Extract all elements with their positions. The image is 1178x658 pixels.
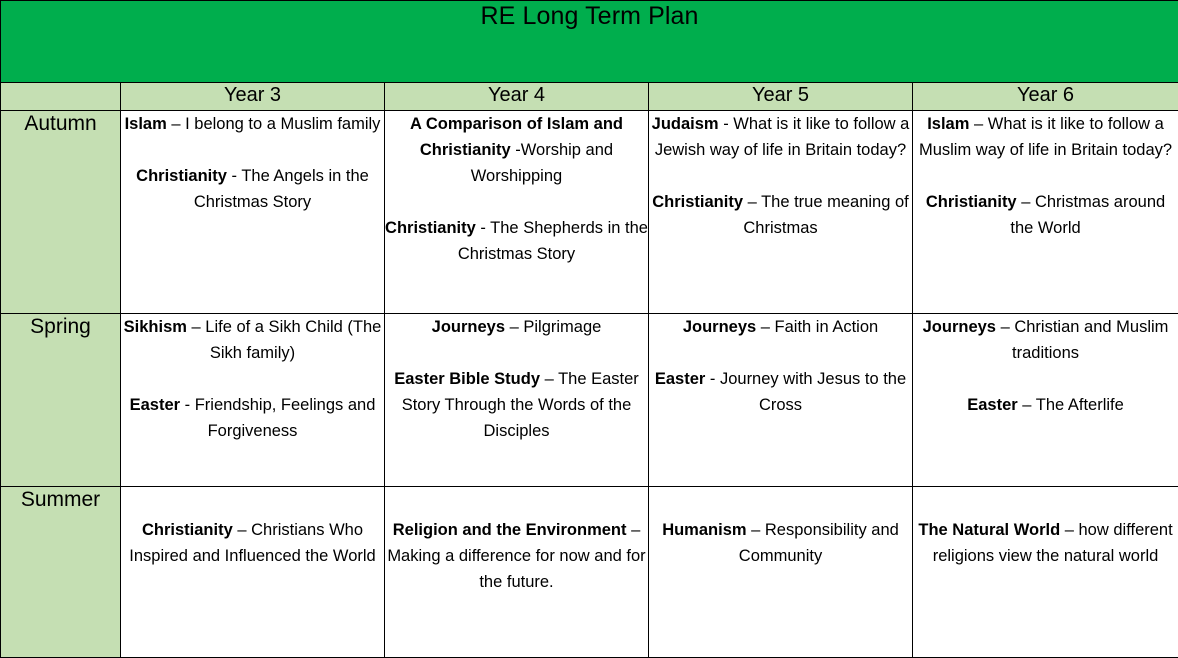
- cell-content: The Natural World – how different religi…: [913, 517, 1178, 569]
- cell-entry: Religion and the Environment – Making a …: [385, 517, 648, 595]
- cell-entry: Christianity - The Shepherds in the Chri…: [385, 215, 648, 267]
- cell-content: Sikhism – Life of a Sikh Child (The Sikh…: [121, 314, 384, 444]
- cell-spring-year-6: Journeys – Christian and Muslim traditio…: [913, 314, 1178, 487]
- column-header-year-4: Year 4: [385, 83, 649, 111]
- cell-entry-detail: – The true meaning of Christmas: [743, 193, 909, 237]
- cell-content: Journeys – Faith in ActionEaster - Journ…: [649, 314, 912, 418]
- title-row: RE Long Term Plan: [1, 1, 1178, 83]
- cell-entry: Christianity – The true meaning of Chris…: [649, 189, 912, 241]
- cell-entry-detail: – Faith in Action: [756, 318, 878, 336]
- cell-entry-topic: Religion and the Environment: [393, 521, 627, 539]
- cell-entry-topic: Humanism: [662, 521, 746, 539]
- cell-entry-topic: Easter: [967, 396, 1017, 414]
- table-row-autumn: Autumn Islam – I belong to a Muslim fami…: [1, 111, 1178, 314]
- cell-content: Religion and the Environment – Making a …: [385, 517, 648, 595]
- year-header-row: Year 3 Year 4 Year 5 Year 6: [1, 83, 1178, 111]
- cell-summer-year-4: Religion and the Environment – Making a …: [385, 487, 649, 658]
- cell-entry-topic: Islam: [927, 115, 969, 133]
- cell-entry-topic: Journeys: [683, 318, 756, 336]
- column-header-year-5: Year 5: [649, 83, 913, 111]
- cell-autumn-year-3: Islam – I belong to a Muslim familyChris…: [121, 111, 385, 314]
- cell-entry: Journeys – Faith in Action: [649, 314, 912, 340]
- cell-entry-detail: – The Afterlife: [1018, 396, 1124, 414]
- cell-autumn-year-6: Islam – What is it like to follow a Musl…: [913, 111, 1178, 314]
- cell-entry-detail: – Responsibility and Community: [739, 521, 899, 565]
- cell-entry: Judaism - What is it like to follow a Je…: [649, 111, 912, 163]
- cell-entry-detail: – Life of a Sikh Child (The Sikh family): [187, 318, 381, 362]
- row-header-autumn: Autumn: [1, 111, 121, 314]
- year-4-label: Year 4: [488, 84, 545, 106]
- cell-entry: The Natural World – how different religi…: [913, 517, 1178, 569]
- cell-entry-topic: Christianity: [142, 521, 233, 539]
- cell-entry-detail: – Pilgrimage: [505, 318, 601, 336]
- cell-entry-detail: - Friendship, Feelings and Forgiveness: [180, 396, 375, 440]
- cell-content: Christianity – Christians Who Inspired a…: [121, 517, 384, 569]
- cell-summer-year-6: The Natural World – how different religi…: [913, 487, 1178, 658]
- cell-entry: Easter Bible Study – The Easter Story Th…: [385, 366, 648, 444]
- table-corner-cell: [1, 83, 121, 111]
- cell-content: Humanism – Responsibility and Community: [649, 517, 912, 569]
- cell-entry-topic: Journeys: [923, 318, 996, 336]
- cell-entry: A Comparison of Islam and Christianity -…: [385, 111, 648, 189]
- table-row-spring: Spring Sikhism – Life of a Sikh Child (T…: [1, 314, 1178, 487]
- cell-entry: Christianity – Christmas around the Worl…: [913, 189, 1178, 241]
- cell-summer-year-3: Christianity – Christians Who Inspired a…: [121, 487, 385, 658]
- cell-entry-topic: The Natural World: [918, 521, 1060, 539]
- long-term-plan-table: RE Long Term Plan Year 3 Year 4 Year 5 Y…: [0, 0, 1178, 658]
- cell-entry-topic: Christianity: [385, 219, 476, 237]
- page-title: RE Long Term Plan: [1, 1, 1178, 31]
- cell-spring-year-4: Journeys – PilgrimageEaster Bible Study …: [385, 314, 649, 487]
- cell-entry: Journeys – Pilgrimage: [385, 314, 648, 340]
- column-header-year-6: Year 6: [913, 83, 1178, 111]
- term-label: Summer: [21, 488, 100, 511]
- column-header-year-3: Year 3: [121, 83, 385, 111]
- cell-entry-detail: - The Shepherds in the Christmas Story: [458, 219, 648, 263]
- cell-entry-topic: Easter: [130, 396, 180, 414]
- cell-spring-year-5: Journeys – Faith in ActionEaster - Journ…: [649, 314, 913, 487]
- cell-entry-detail: – Christian and Muslim traditions: [996, 318, 1168, 362]
- cell-content: Journeys – Christian and Muslim traditio…: [913, 314, 1178, 418]
- term-label: Spring: [30, 315, 91, 338]
- cell-entry: Islam – I belong to a Muslim family: [121, 111, 384, 137]
- cell-content: Islam – I belong to a Muslim familyChris…: [121, 111, 384, 215]
- cell-autumn-year-4: A Comparison of Islam and Christianity -…: [385, 111, 649, 314]
- cell-content: Journeys – PilgrimageEaster Bible Study …: [385, 314, 648, 444]
- cell-entry-topic: Judaism: [652, 115, 719, 133]
- re-long-term-plan-document: RE Long Term Plan Year 3 Year 4 Year 5 Y…: [0, 0, 1178, 655]
- cell-entry-topic: Sikhism: [124, 318, 187, 336]
- cell-entry-detail: – Christmas around the World: [1010, 193, 1165, 237]
- document-title-banner: RE Long Term Plan: [1, 1, 1178, 83]
- cell-summer-year-5: Humanism – Responsibility and Community: [649, 487, 913, 658]
- cell-entry: Sikhism – Life of a Sikh Child (The Sikh…: [121, 314, 384, 366]
- cell-entry-detail: – I belong to a Muslim family: [167, 115, 381, 133]
- cell-entry: Christianity – Christians Who Inspired a…: [121, 517, 384, 569]
- year-6-label: Year 6: [1017, 84, 1074, 106]
- cell-autumn-year-5: Judaism - What is it like to follow a Je…: [649, 111, 913, 314]
- year-5-label: Year 5: [752, 84, 809, 106]
- cell-entry: Humanism – Responsibility and Community: [649, 517, 912, 569]
- cell-entry-topic: Easter: [655, 370, 705, 388]
- term-label: Autumn: [24, 112, 96, 135]
- cell-entry: Christianity - The Angels in the Christm…: [121, 163, 384, 215]
- cell-content: Judaism - What is it like to follow a Je…: [649, 111, 912, 241]
- cell-entry: Journeys – Christian and Muslim traditio…: [913, 314, 1178, 366]
- cell-entry: Easter - Journey with Jesus to the Cross: [649, 366, 912, 418]
- cell-entry: Islam – What is it like to follow a Musl…: [913, 111, 1178, 163]
- cell-entry-detail: - Journey with Jesus to the Cross: [705, 370, 906, 414]
- year-3-label: Year 3: [224, 84, 281, 106]
- row-header-summer: Summer: [1, 487, 121, 658]
- cell-entry-topic: Easter Bible Study: [394, 370, 540, 388]
- cell-entry-topic: Christianity: [926, 193, 1017, 211]
- cell-entry-topic: Christianity: [136, 167, 227, 185]
- cell-entry-topic: Christianity: [652, 193, 743, 211]
- cell-spring-year-3: Sikhism – Life of a Sikh Child (The Sikh…: [121, 314, 385, 487]
- cell-content: Islam – What is it like to follow a Musl…: [913, 111, 1178, 241]
- cell-entry-topic: Islam: [125, 115, 167, 133]
- cell-entry-topic: Journeys: [432, 318, 505, 336]
- row-header-spring: Spring: [1, 314, 121, 487]
- cell-content: A Comparison of Islam and Christianity -…: [385, 111, 648, 267]
- table-row-summer: Summer Christianity – Christians Who Ins…: [1, 487, 1178, 658]
- cell-entry: Easter - Friendship, Feelings and Forgiv…: [121, 392, 384, 444]
- cell-entry: Easter – The Afterlife: [913, 392, 1178, 418]
